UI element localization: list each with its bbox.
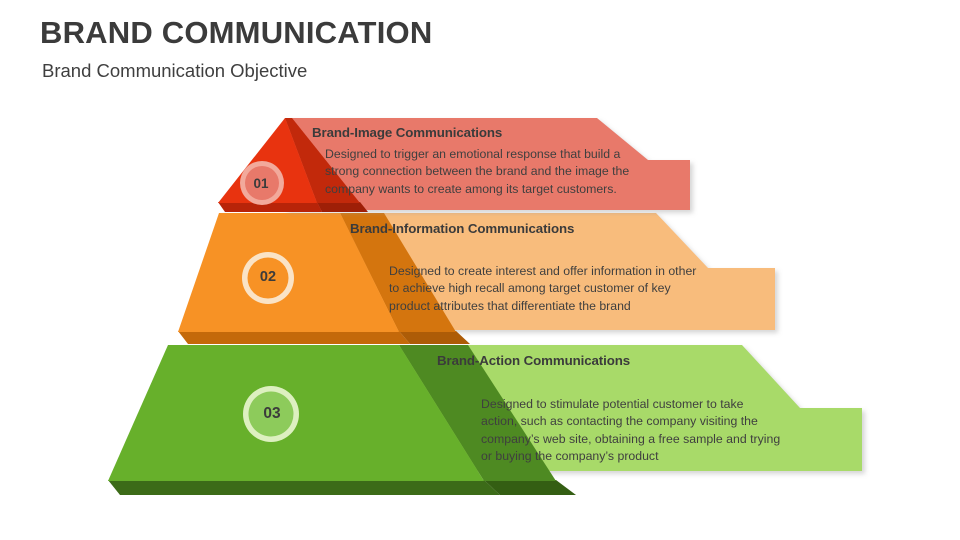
- tier-2-badge-number: 02: [249, 269, 287, 285]
- tier-1-body: Designed to trigger an emotional respons…: [325, 146, 647, 198]
- tier-3-heading: Brand-Action Communications: [437, 353, 630, 368]
- tier-2-base-edge-right: [399, 331, 470, 344]
- tier-1-badge-number: 01: [244, 176, 278, 191]
- tier-3-base-edge: [108, 480, 500, 495]
- slide-canvas: BRAND COMMUNICATION Brand Communication …: [0, 0, 960, 540]
- tier-2-heading: Brand-Information Communications: [350, 221, 574, 236]
- tier-1-heading: Brand-Image Communications: [312, 125, 502, 140]
- tier-2-base-edge: [178, 331, 410, 344]
- tier-3-base-edge-right: [484, 480, 576, 495]
- tier-3-badge-number: 03: [252, 405, 292, 423]
- tier-2-body: Designed to create interest and offer in…: [389, 263, 704, 315]
- tier-3-body: Designed to stimulate potential customer…: [481, 396, 781, 466]
- tier-1-base-edge: [218, 202, 322, 212]
- tier-1-base-edge-right: [317, 202, 368, 212]
